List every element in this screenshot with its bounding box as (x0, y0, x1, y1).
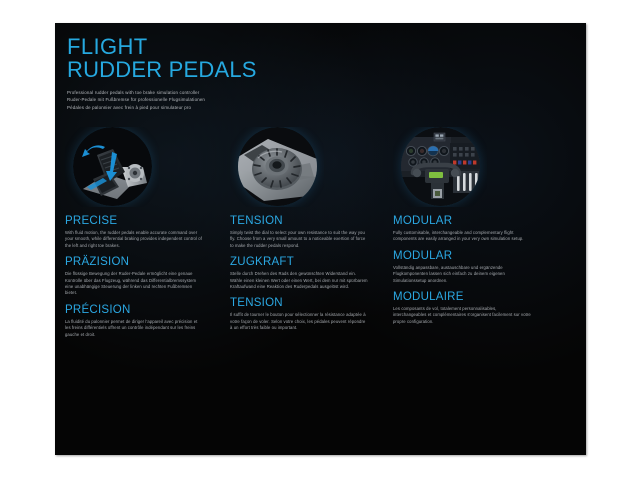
feature-text-precise: PRECISE With fluid motion, the rudder pe… (63, 215, 209, 338)
feature-heading-modular-en: MODULAR (393, 215, 537, 228)
cockpit-yoke-panel-photo (393, 127, 487, 207)
tension-dial-photo (230, 127, 324, 207)
feature-body-precise-en: With fluid motion, the rudder pedals ena… (65, 230, 203, 249)
product-info-panel: FLIGHT RUDDER PEDALS Professional rudder… (55, 23, 586, 455)
feature-text-tension: TENSION Simply twist the dial to select … (228, 215, 374, 332)
feature-heading-modular-de: MODULAR (393, 250, 537, 263)
photo-circle-mask (401, 127, 480, 206)
feature-heading-precise-de: PRÄZISION (65, 256, 209, 269)
feature-block-en: TENSION Simply twist the dial to select … (230, 215, 374, 249)
subtitle-de: Ruder-Pedale mit Fußbremse für professio… (67, 96, 487, 103)
feature-column-precise: PRECISE With fluid motion, the rudder pe… (63, 127, 209, 338)
feature-body-modular-en: Fully customisable, interchangeable and … (393, 230, 531, 243)
feature-block-en: MODULAR Fully customisable, interchangea… (393, 215, 537, 243)
rudder-pedal-motion-photo (65, 127, 159, 207)
photo-circle-mask (73, 127, 152, 206)
feature-column-modular: MODULAR Fully customisable, interchangea… (391, 127, 537, 325)
panel-background: FLIGHT RUDDER PEDALS Professional rudder… (55, 23, 586, 455)
feature-body-modular-fr: Les composants de vol, totalement person… (393, 306, 531, 325)
feature-body-tension-de: Stelle durch Drehen des Rads den gewünsc… (230, 271, 368, 290)
feature-body-precise-fr: La fluidité du palonnier permet de dirig… (65, 319, 203, 338)
feature-body-precise-de: Die flüssige Bewegung der Ruder-Pedale e… (65, 271, 203, 297)
page-title-line2: RUDDER PEDALS (67, 58, 487, 81)
feature-block-fr: MODULAIRE Les composants de vol, totalem… (393, 291, 537, 325)
feature-body-tension-fr: Il suffit de tourner le bouton pour séle… (230, 312, 368, 331)
feature-block-de: ZUGKRAFT Stelle durch Drehen des Rads de… (230, 256, 374, 290)
feature-heading-tension-en: TENSION (230, 215, 374, 228)
subtitle-group: Professional rudder pedals with toe brak… (67, 89, 487, 111)
feature-body-tension-en: Simply twist the dial to select your own… (230, 230, 368, 249)
photo-circle-mask (238, 127, 317, 206)
tension-dial-illustration (238, 127, 317, 206)
feature-block-fr: TENSION Il suffit de tourner le bouton p… (230, 297, 374, 331)
feature-heading-precise-fr: PRÉCISION (65, 304, 209, 317)
subtitle-en: Professional rudder pedals with toe brak… (67, 89, 487, 96)
feature-text-modular: MODULAR Fully customisable, interchangea… (391, 215, 537, 325)
feature-columns: PRECISE With fluid motion, the rudder pe… (55, 127, 586, 387)
header: FLIGHT RUDDER PEDALS Professional rudder… (67, 35, 487, 111)
subtitle-fr: Pédales de palonnier avec frein à pied p… (67, 104, 487, 111)
feature-block-en: PRECISE With fluid motion, the rudder pe… (65, 215, 209, 249)
feature-body-modular-de: Vollständig anpassbare, austauschbare un… (393, 265, 531, 284)
feature-heading-tension-fr: TENSION (230, 297, 374, 310)
feature-block-de: MODULAR Vollständig anpassbare, austausc… (393, 250, 537, 284)
page-title-line1: FLIGHT (67, 35, 487, 58)
feature-heading-modular-fr: MODULAIRE (393, 291, 537, 304)
rudder-pedal-illustration (73, 127, 152, 206)
feature-heading-tension-de: ZUGKRAFT (230, 256, 374, 269)
feature-heading-precise-en: PRECISE (65, 215, 209, 228)
feature-block-de: PRÄZISION Die flüssige Bewegung der Rude… (65, 256, 209, 297)
cockpit-yoke-illustration (401, 127, 480, 206)
feature-column-tension: TENSION Simply twist the dial to select … (228, 127, 374, 332)
feature-block-fr: PRÉCISION La fluidité du palonnier perme… (65, 304, 209, 338)
